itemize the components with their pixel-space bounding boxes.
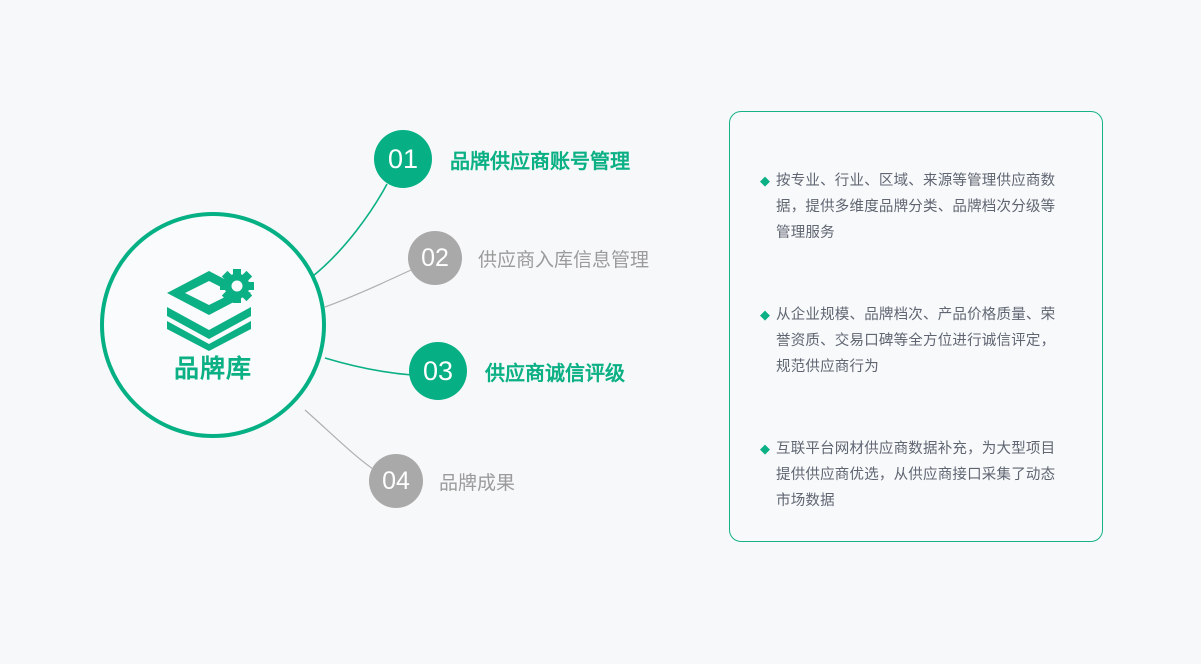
node-badge-02[interactable]: 02: [408, 231, 462, 285]
node-title-02[interactable]: 供应商入库信息管理: [478, 245, 649, 272]
node-item-01[interactable]: 01 品牌供应商账号管理: [374, 130, 630, 188]
node-title-04[interactable]: 品牌成果: [439, 468, 515, 495]
diamond-bullet-icon: ◆: [760, 302, 776, 328]
panel-bullet-2: ◆ 从企业规模、品牌档次、产品价格质量、荣誉资质、交易口碑等全方位进行诚信评定，…: [760, 302, 1072, 380]
node-title-01[interactable]: 品牌供应商账号管理: [450, 145, 630, 174]
connector-line-02: [325, 270, 411, 307]
node-title-03[interactable]: 供应商诚信评级: [485, 357, 625, 386]
panel-bullet-text-2: 从企业规模、品牌档次、产品价格质量、荣誉资质、交易口碑等全方位进行诚信评定，规范…: [776, 302, 1062, 380]
connector-line-04: [305, 410, 376, 471]
node-item-02[interactable]: 02 供应商入库信息管理: [408, 231, 649, 285]
node-item-04[interactable]: 04 品牌成果: [369, 454, 515, 508]
node-item-03[interactable]: 03 供应商诚信评级: [409, 342, 625, 400]
panel-bullet-text-3: 互联平台网材供应商数据补充，为大型项目提供供应商优选，从供应商接口采集了动态市场…: [776, 436, 1062, 514]
node-badge-01[interactable]: 01: [374, 130, 432, 188]
layers-gear-icon: [165, 269, 261, 351]
infographic-canvas: 品牌库 01 品牌供应商账号管理 02 供应商入库信息管理 03 供应商诚信评级…: [0, 0, 1201, 664]
panel-bullet-1: ◆ 按专业、行业、区域、来源等管理供应商数据，提供多维度品牌分类、品牌档次分级等…: [760, 168, 1072, 246]
description-panel: ◆ 按专业、行业、区域、来源等管理供应商数据，提供多维度品牌分类、品牌档次分级等…: [729, 111, 1103, 542]
hub-circle[interactable]: 品牌库: [100, 212, 326, 438]
connector-line-03: [325, 358, 412, 375]
panel-bullet-text-1: 按专业、行业、区域、来源等管理供应商数据，提供多维度品牌分类、品牌档次分级等管理…: [776, 168, 1062, 246]
node-badge-04[interactable]: 04: [369, 454, 423, 508]
hub-label: 品牌库: [174, 357, 252, 382]
panel-bullet-3: ◆ 互联平台网材供应商数据补充，为大型项目提供供应商优选，从供应商接口采集了动态…: [760, 436, 1072, 514]
connector-line-01: [313, 184, 387, 276]
diamond-bullet-icon: ◆: [760, 436, 776, 462]
diamond-bullet-icon: ◆: [760, 168, 776, 194]
node-badge-03[interactable]: 03: [409, 342, 467, 400]
